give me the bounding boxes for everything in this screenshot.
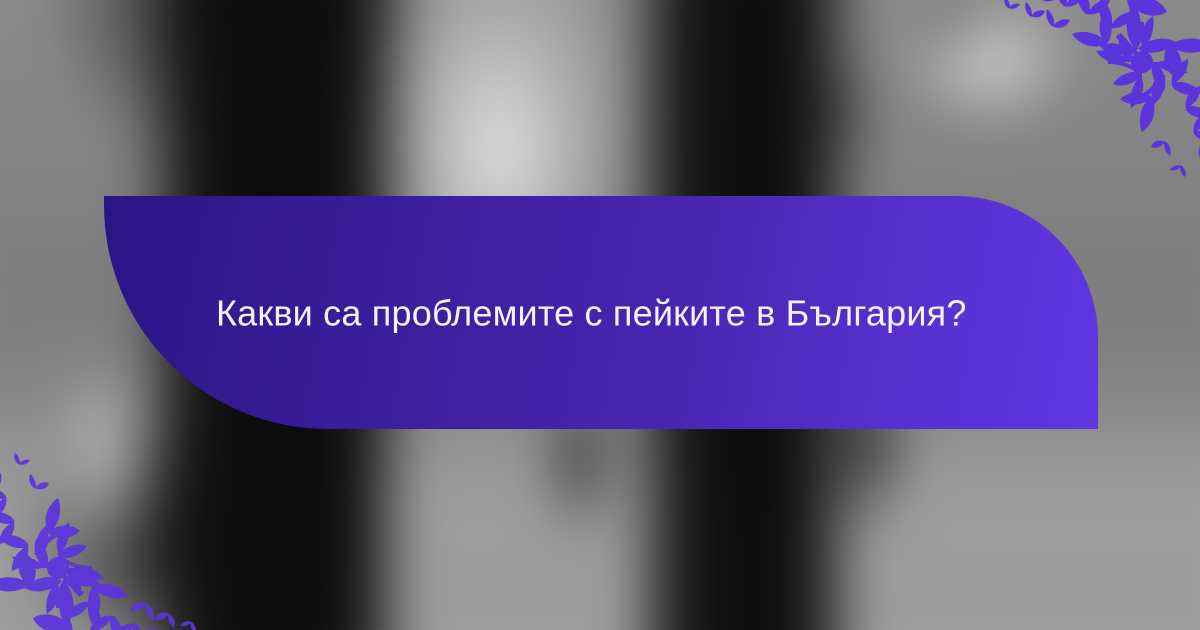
headline-text: Какви са проблемите с пейките в България… — [216, 291, 967, 334]
headline-banner: Какви са проблемите с пейките в България… — [104, 196, 1098, 429]
social-share-card: Какви са проблемите с пейките в България… — [0, 0, 1200, 630]
